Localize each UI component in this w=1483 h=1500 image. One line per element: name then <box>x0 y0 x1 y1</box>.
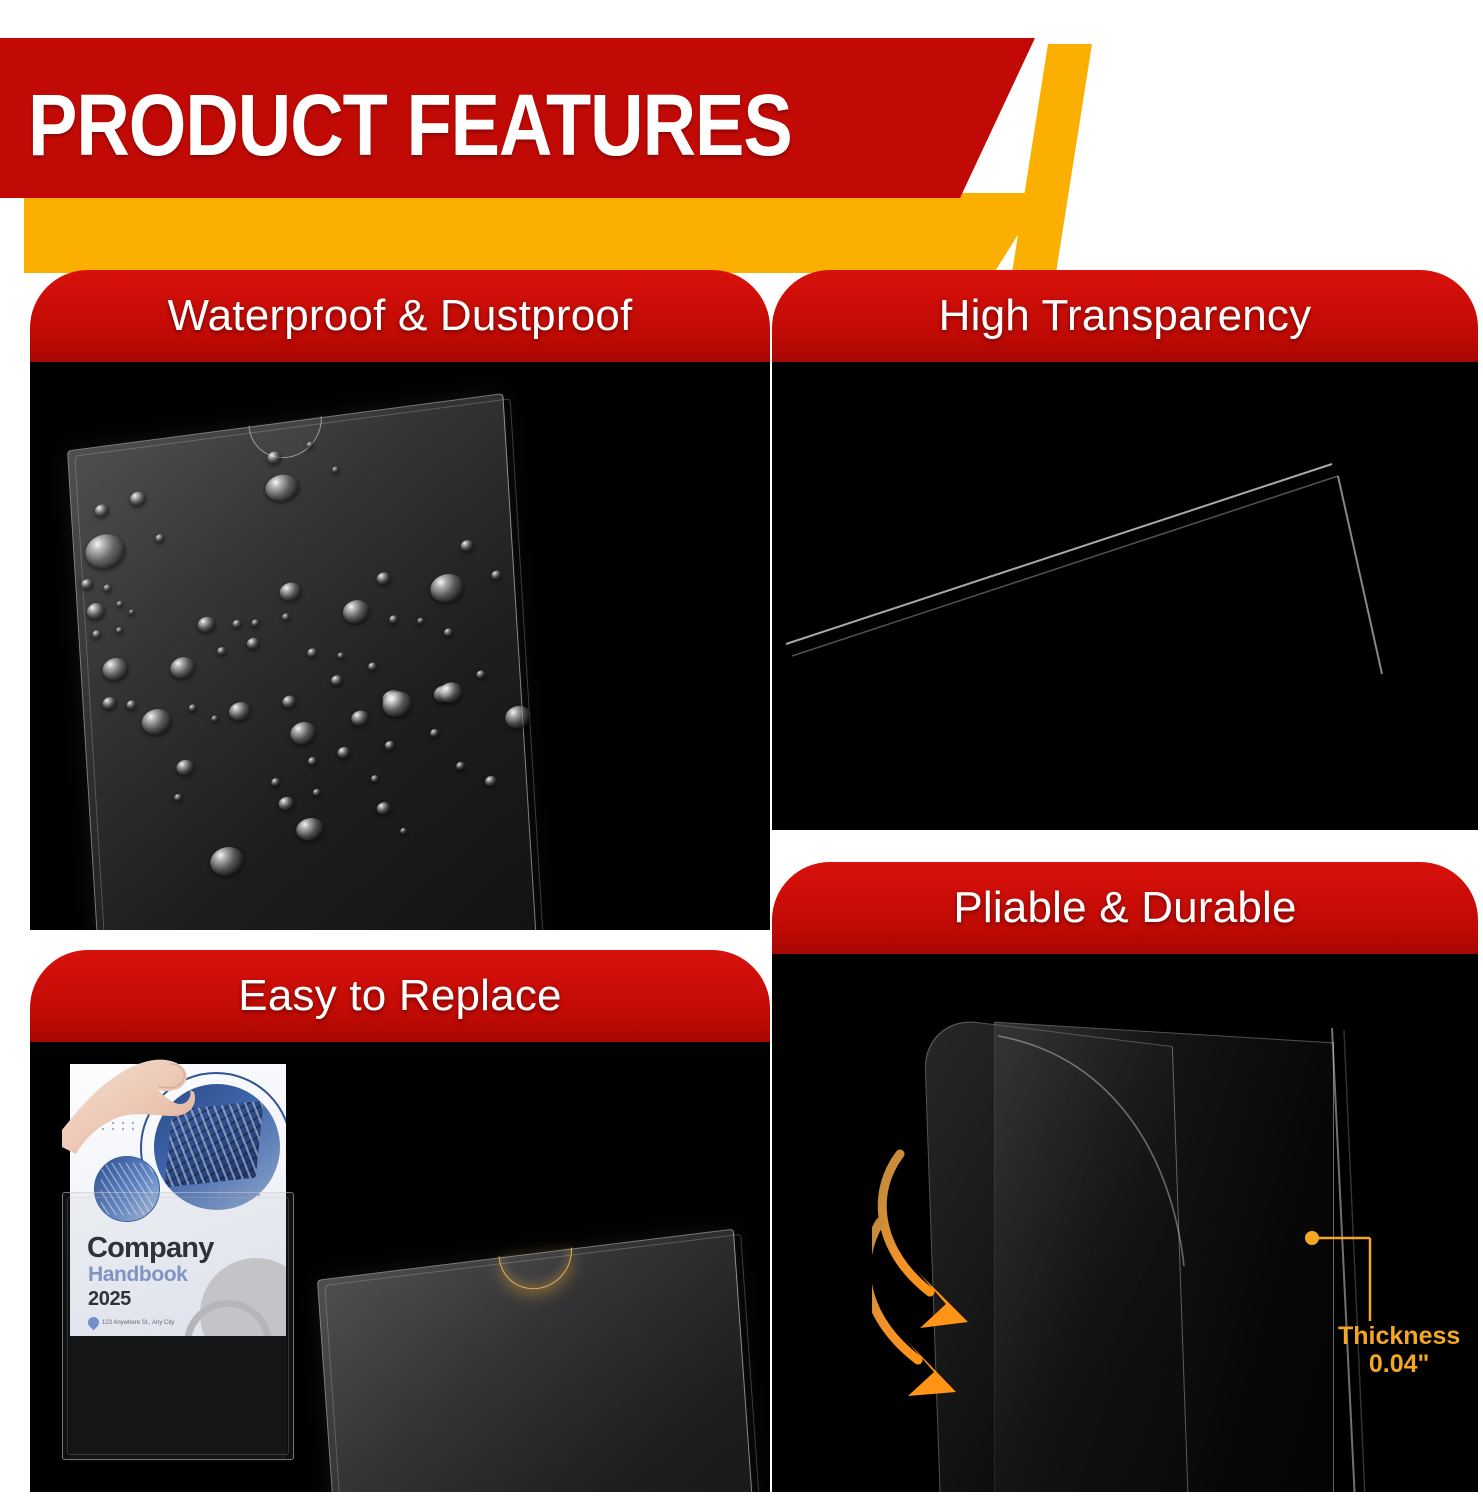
header-banner: PRODUCT FEATURES <box>0 34 1075 240</box>
panel-replace-title: Easy to Replace <box>238 971 561 1021</box>
location-pin-icon <box>86 1315 102 1331</box>
thickness-value: 0.04" <box>1338 1350 1460 1378</box>
bend-arrows-icon <box>872 1126 1202 1416</box>
thickness-label: Thickness <box>1338 1322 1460 1350</box>
hand-insert-icon <box>62 1046 252 1164</box>
panel-waterproof-title: Waterproof & Dustproof <box>168 291 633 341</box>
panel-pliable-body: Thickness 0.04" <box>772 936 1478 1492</box>
booklet-address-line: 123 Anywhere St., Any City <box>88 1317 174 1328</box>
acrylic-sheet <box>67 393 537 930</box>
acrylic-sheet-empty <box>317 1229 763 1492</box>
thickness-callout: Thickness 0.04" <box>1338 1322 1460 1378</box>
panel-replace-header: Easy to Replace <box>30 950 770 1042</box>
panel-transparency-title: High Transparency <box>939 291 1312 341</box>
water-droplets-icon <box>67 393 537 930</box>
booklet-address-text: 123 Anywhere St., Any City <box>102 1320 174 1326</box>
booklet-dots-mid <box>218 1188 263 1196</box>
sleeve-edge-overlay <box>772 344 1478 830</box>
panel-waterproof-body <box>30 344 770 930</box>
panel-pliable-title: Pliable & Durable <box>953 883 1296 933</box>
booklet-building-photo-small <box>94 1156 160 1222</box>
panel-pliable: Thickness 0.04" Pliable & Durable <box>772 862 1478 1492</box>
booklet-sleeve-shadow <box>70 1336 286 1462</box>
panel-transparency-body: PREPARED FOR Jacqueline Thompson 2022 / … <box>772 344 1478 830</box>
banner-yellow-band <box>24 193 1044 273</box>
booklet-year: 2025 <box>88 1288 131 1311</box>
panel-waterproof: Waterproof & Dustproof <box>30 270 770 930</box>
booklet-subtitle: Handbook <box>88 1263 187 1287</box>
product-features-infographic: PRODUCT FEATURES <box>0 0 1483 1500</box>
panel-waterproof-header: Waterproof & Dustproof <box>30 270 770 362</box>
panel-transparency-header: High Transparency <box>772 270 1478 362</box>
panel-pliable-header: Pliable & Durable <box>772 862 1478 954</box>
banner-yellow-tail <box>1012 44 1092 273</box>
page-title: PRODUCT FEATURES <box>28 82 792 169</box>
booklet-title: Company <box>87 1232 214 1265</box>
panel-transparency: PREPARED FOR Jacqueline Thompson 2022 / … <box>772 270 1478 830</box>
